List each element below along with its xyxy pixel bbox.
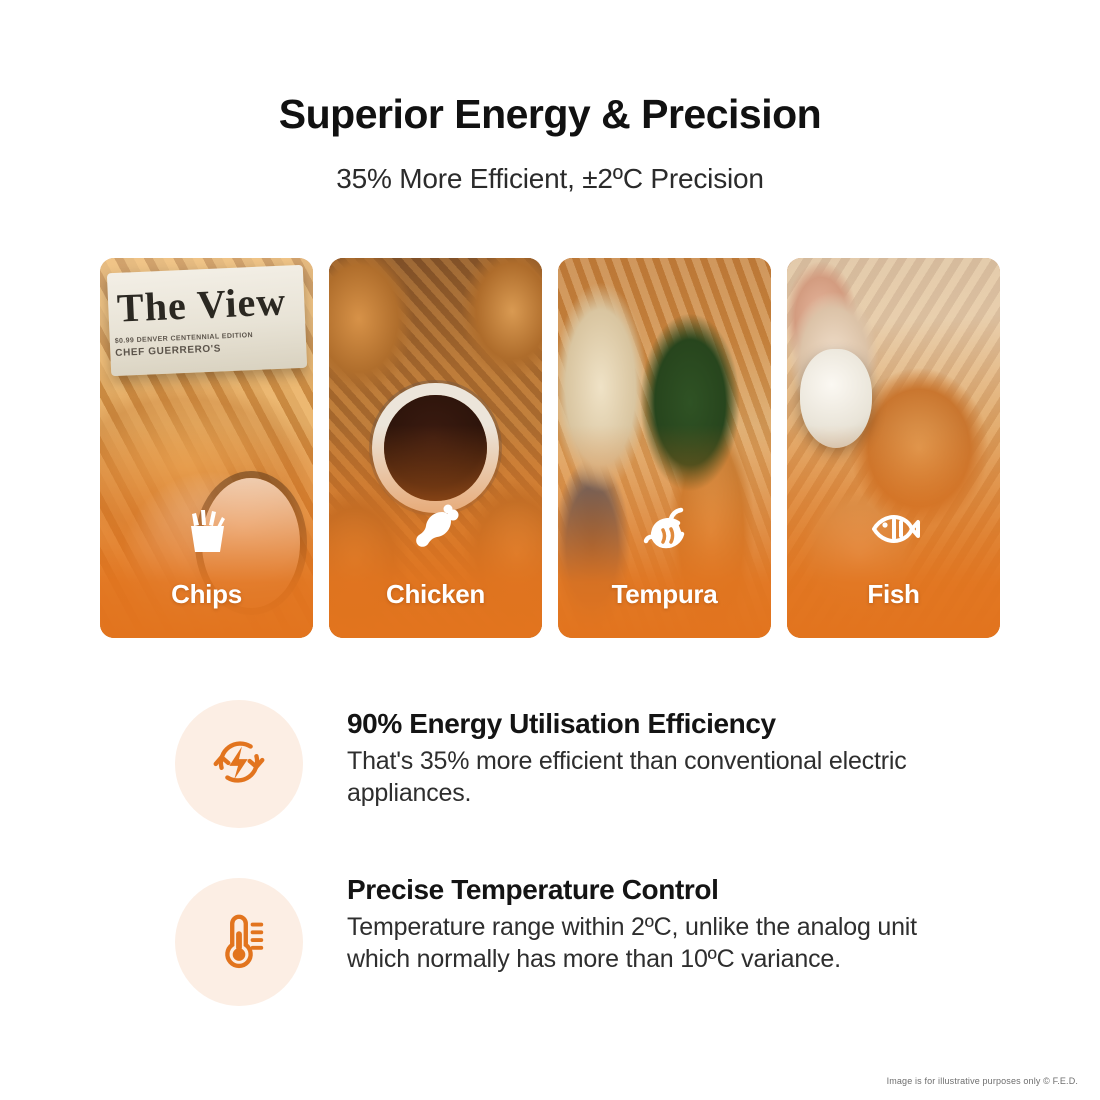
feature-title: Precise Temperature Control — [347, 874, 935, 906]
feature-description: That's 35% more efficient than conventio… — [347, 746, 935, 810]
page-subtitle: 35% More Efficient, ±2ºC Precision — [0, 163, 1100, 195]
shrimp-icon — [637, 504, 693, 554]
thermometer-badge — [175, 878, 303, 1006]
food-card-label: Chips — [100, 579, 313, 610]
feature-description: Temperature range within 2ºC, unlike the… — [347, 912, 935, 976]
energy-cycle-icon — [208, 731, 270, 798]
feature-title: 90% Energy Utilisation Efficiency — [347, 708, 935, 740]
food-card-chicken[interactable]: Chicken — [329, 258, 542, 638]
feature-item-temperature: Precise Temperature Control Temperature … — [175, 866, 935, 1006]
feature-list: 90% Energy Utilisation Efficiency That's… — [175, 700, 935, 1044]
disclaimer-text: Image is for illustrative purposes only … — [887, 1076, 1078, 1086]
energy-cycle-badge — [175, 700, 303, 828]
feature-text-block: 90% Energy Utilisation Efficiency That's… — [347, 700, 935, 810]
drumstick-icon — [408, 504, 464, 554]
food-card-tempura[interactable]: Tempura — [558, 258, 771, 638]
thermometer-icon — [208, 909, 270, 976]
page-title: Superior Energy & Precision — [0, 92, 1100, 137]
food-card-label: Tempura — [558, 579, 771, 610]
fish-icon — [866, 504, 922, 554]
feature-item-energy: 90% Energy Utilisation Efficiency That's… — [175, 700, 935, 828]
header: Superior Energy & Precision 35% More Eff… — [0, 0, 1100, 195]
food-category-card-row: $0.99 DENVER CENTENNIAL EDITION CHEF GUE… — [100, 258, 1000, 638]
newspaper-price: $0.99 — [115, 337, 135, 345]
food-card-label: Chicken — [329, 579, 542, 610]
food-card-fish[interactable]: Fish — [787, 258, 1000, 638]
newspaper-strapline: $0.99 DENVER CENTENNIAL EDITION CHEF GUE… — [115, 330, 299, 359]
feature-text-block: Precise Temperature Control Temperature … — [347, 866, 935, 976]
food-card-chips[interactable]: $0.99 DENVER CENTENNIAL EDITION CHEF GUE… — [100, 258, 313, 638]
food-card-label: Fish — [787, 579, 1000, 610]
fries-icon — [179, 504, 235, 554]
